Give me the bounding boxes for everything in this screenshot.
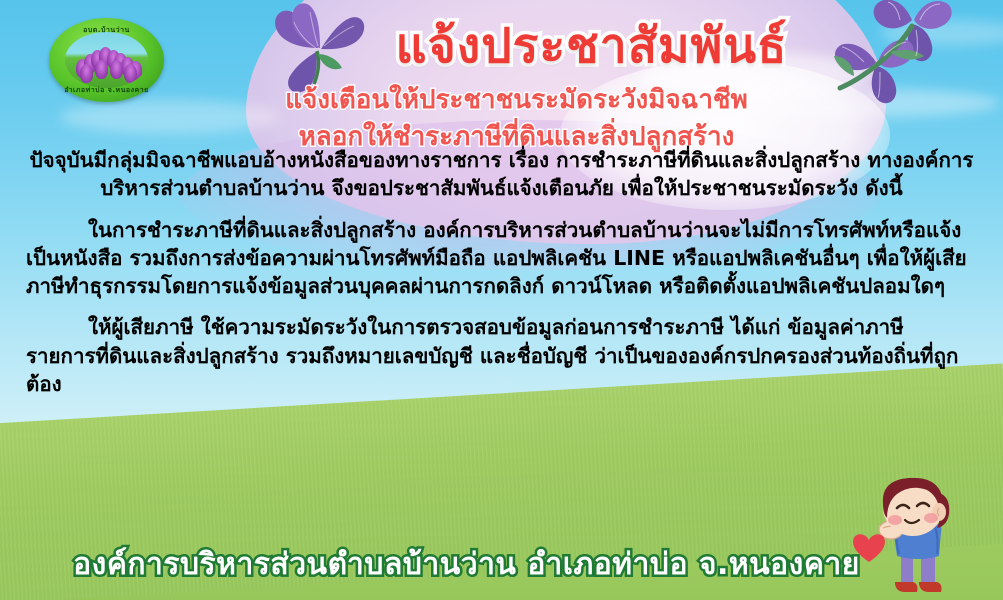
poster-subtitle-line-1: แจ้งเตือนให้ประชาชนระมัดระวังมิจฉาชีพ xyxy=(30,82,1003,119)
poster-subtitle: แจ้งเตือนให้ประชาชนระมัดระวังมิจฉาชีพ หล… xyxy=(0,82,1003,156)
announcement-poster: อบต.บ้านว่าน อำเภอท่าบ่อ จ.หนองคาย แจ้งป… xyxy=(0,0,1003,600)
body-paragraph-2: ในการชำระภาษีที่ดินและสิ่งปลูกสร้าง องค์… xyxy=(26,216,977,301)
poster-title: แจ้งประชาสัมพันธ์ xyxy=(0,21,1003,71)
body-paragraph-1: ปัจจุบันมีกลุ่มมิจฉาชีพแอบอ้างหนังสือของ… xyxy=(26,146,977,203)
boy-wai-icon xyxy=(839,474,989,596)
poster-body: ปัจจุบันมีกลุ่มมิจฉาชีพแอบอ้างหนังสือของ… xyxy=(26,146,977,411)
heart-icon xyxy=(853,534,885,562)
body-paragraph-3: ให้ผู้เสียภาษี ใช้ความระมัดระวังในการตรว… xyxy=(26,313,977,398)
